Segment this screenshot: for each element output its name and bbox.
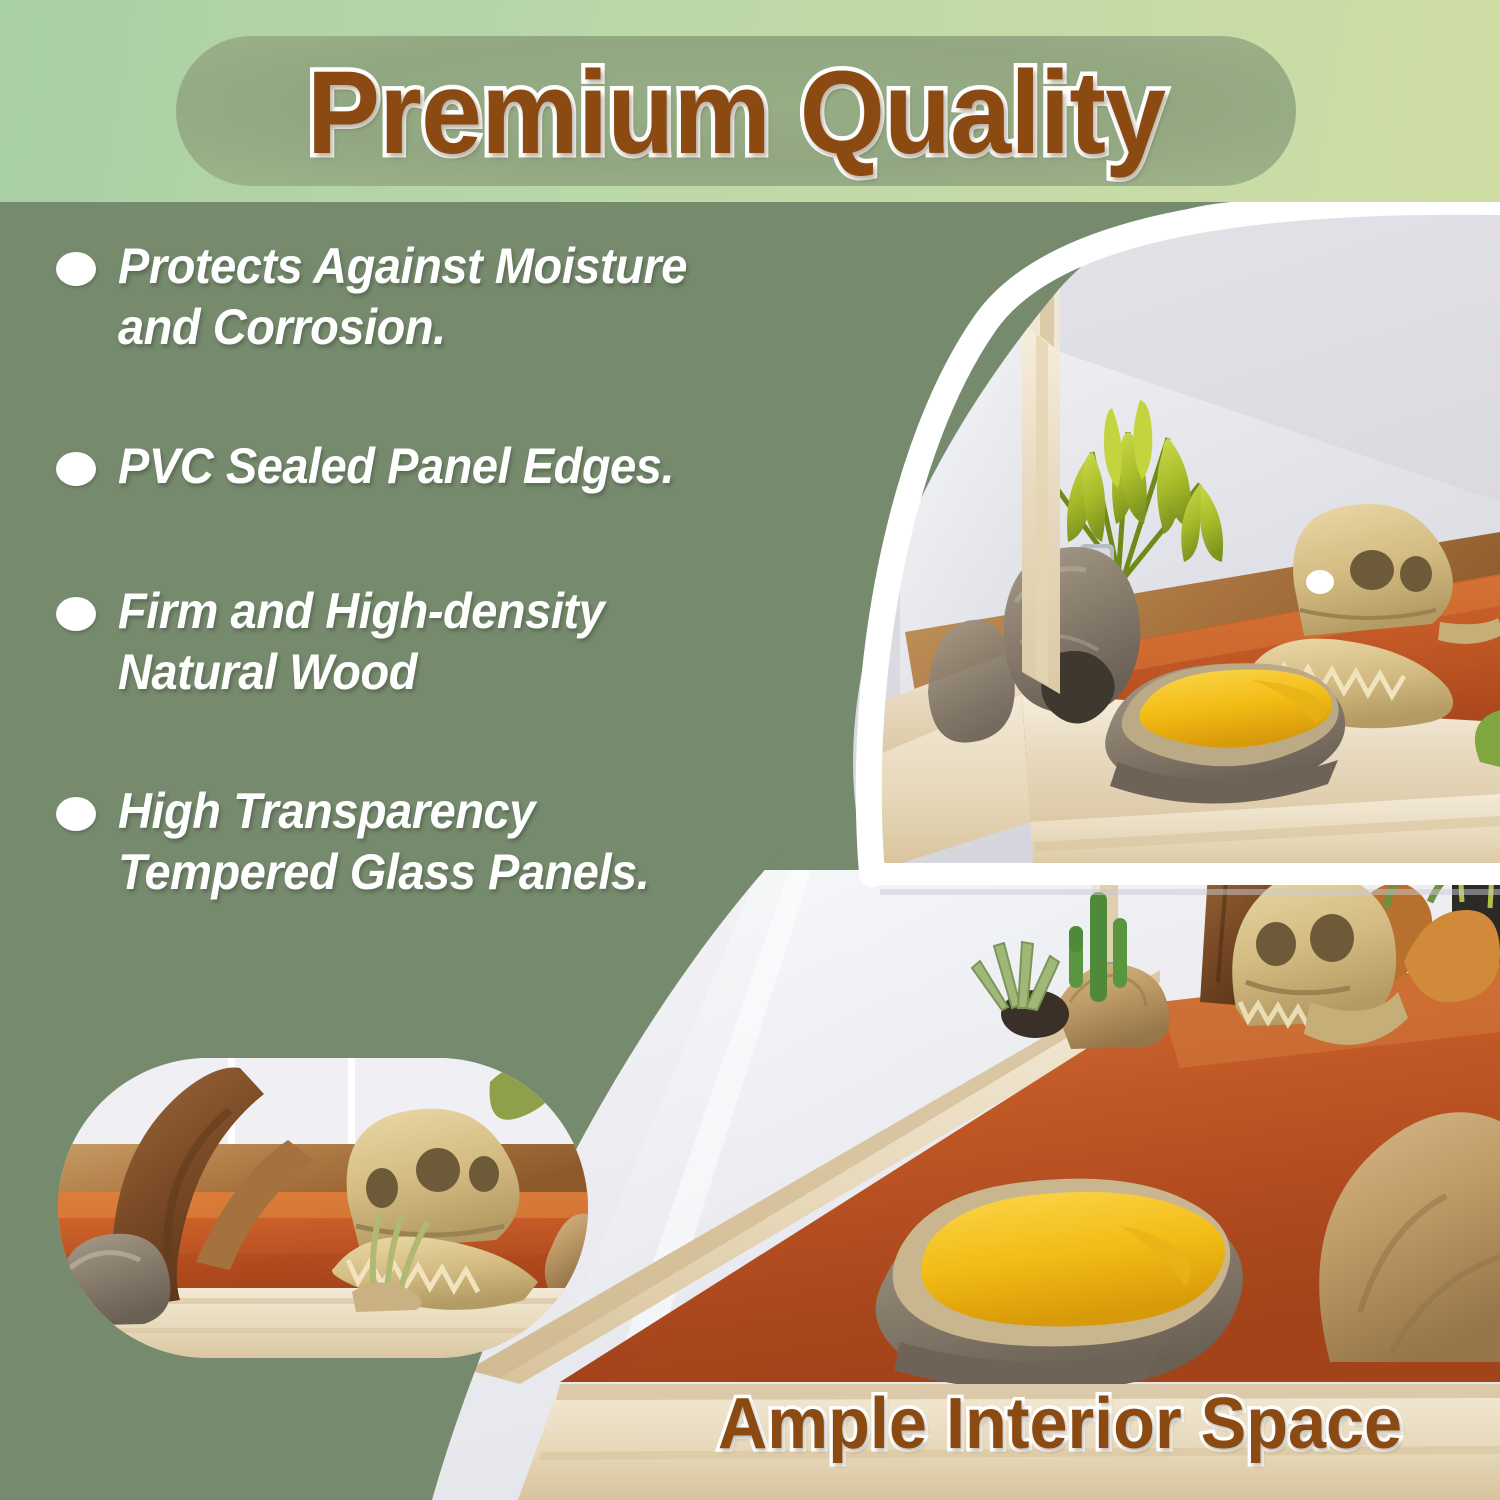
feature-text: PVC Sealed Panel Edges. (118, 436, 674, 497)
list-item: Firm and High-density Natural Wood (56, 581, 856, 703)
bottom-caption: Ample Interior Space (661, 1378, 1459, 1470)
feature-list: Protects Against Moisture and Corrosion.… (56, 236, 856, 981)
bullet-dot-icon (56, 252, 96, 286)
page-title: Premium Quality (215, 38, 1257, 188)
feature-line: and Corrosion. (118, 297, 687, 358)
feature-text: High Transparency Tempered Glass Panels. (118, 781, 649, 903)
photo-oval-inset (58, 1057, 588, 1362)
feature-line: Tempered Glass Panels. (118, 842, 649, 903)
feature-line: High Transparency (118, 781, 649, 842)
bullet-dot-icon (56, 797, 96, 831)
feature-line: Protects Against Moisture (118, 236, 687, 297)
feature-line: PVC Sealed Panel Edges. (118, 436, 674, 497)
feature-text: Firm and High-density Natural Wood (118, 581, 604, 703)
product-infographic: Premium Quality (0, 0, 1500, 1500)
feature-line: Natural Wood (118, 642, 604, 703)
feature-line: Firm and High-density (118, 581, 604, 642)
list-item: Protects Against Moisture and Corrosion. (56, 236, 856, 358)
bullet-dot-icon (56, 452, 96, 486)
photo-top-right (840, 202, 1500, 892)
list-item: PVC Sealed Panel Edges. (56, 436, 856, 497)
bullet-dot-icon (56, 597, 96, 631)
list-item: High Transparency Tempered Glass Panels. (56, 781, 856, 903)
feature-text: Protects Against Moisture and Corrosion. (118, 236, 687, 358)
